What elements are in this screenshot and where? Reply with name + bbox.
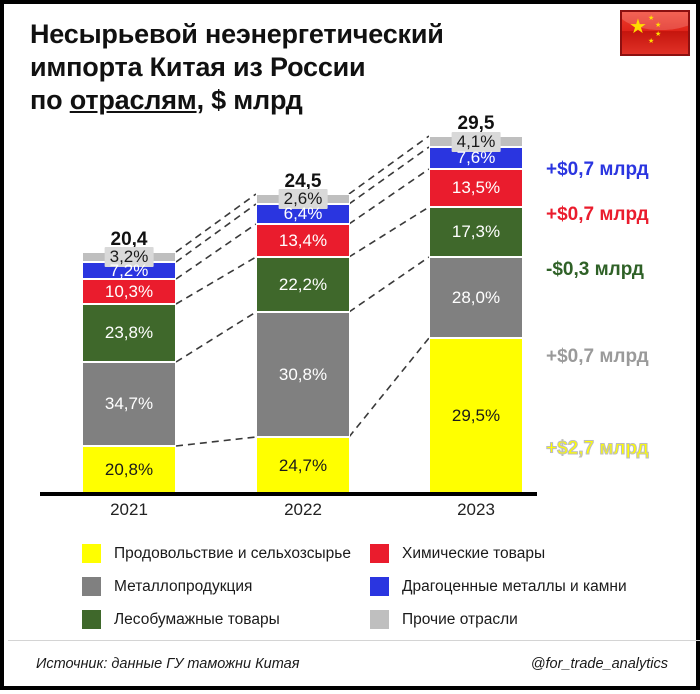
segment-label: 7,2% [110, 261, 149, 281]
legend-swatch-metal-icon [82, 577, 101, 596]
page-title: Несырьевой неэнергетический импорта Кита… [30, 18, 590, 117]
segment-other-2022: 2,6% [256, 194, 350, 204]
segment-label: 23,8% [105, 323, 153, 343]
segment-food-2023: 29,5% [429, 338, 523, 494]
segment-chem-2022: 13,4% [256, 224, 350, 257]
title-line-1: Несырьевой неэнергетический [30, 18, 590, 51]
flag-star-2: ★ [655, 22, 661, 29]
author-handle: @for_trade_analytics [531, 656, 668, 672]
delta-note-precious: +$0,7 млрд [546, 159, 649, 181]
legend-swatch-wood-icon [82, 610, 101, 629]
title-line-2: импорта Китая из России [30, 51, 590, 84]
legend-label: Прочие отрасли [402, 611, 518, 629]
flag-star-3: ★ [655, 31, 661, 38]
segment-label: 13,4% [279, 231, 327, 251]
x-axis-label-2022: 2022 [256, 500, 350, 520]
legend-item-wood[interactable]: Лесобумажные товары [82, 610, 280, 629]
segment-wood-2021: 23,8% [82, 304, 176, 362]
title-line-3-underlined: отраслям [70, 85, 197, 115]
flag-star-large: ★ [629, 17, 647, 37]
segment-food-2022: 24,7% [256, 437, 350, 494]
legend-item-chem[interactable]: Химические товары [370, 544, 545, 563]
china-flag-icon: ★ ★ ★ ★ ★ [620, 10, 690, 56]
segment-label: 34,7% [105, 394, 153, 414]
legend-item-metal[interactable]: Металлопродукция [82, 577, 252, 596]
legend-label: Металлопродукция [114, 578, 252, 596]
flag-star-1: ★ [648, 15, 654, 22]
segment-chem-2021: 10,3% [82, 279, 176, 304]
segment-label: 13,5% [452, 178, 500, 198]
segment-label: 6,4% [284, 204, 323, 224]
legend-label: Продовольствие и сельхозсырье [114, 545, 351, 563]
segment-metal-2021: 34,7% [82, 362, 176, 446]
segment-wood-2023: 17,3% [429, 207, 523, 257]
legend-swatch-chem-icon [370, 544, 389, 563]
delta-note-wood: -$0,3 млрд [546, 259, 644, 281]
segment-food-2021: 20,8% [82, 446, 176, 494]
segment-precious-2021: 7,2% [82, 262, 176, 279]
segment-metal-2022: 30,8% [256, 312, 350, 437]
segment-label: 7,6% [457, 148, 496, 168]
delta-note-food: +$2,7 млрд [546, 438, 649, 460]
segment-label: 10,3% [105, 282, 153, 302]
footer-divider [8, 640, 700, 641]
delta-note-metal: +$0,7 млрд [546, 346, 649, 368]
segment-label: 29,5% [452, 406, 500, 426]
delta-note-chem: +$0,7 млрд [546, 204, 649, 226]
legend-item-food[interactable]: Продовольствие и сельхозсырье [82, 544, 351, 563]
segment-metal-2023: 28,0% [429, 257, 523, 338]
legend-item-other[interactable]: Прочие отрасли [370, 610, 518, 629]
segment-label: 28,0% [452, 288, 500, 308]
x-axis-line [40, 492, 537, 496]
legend-swatch-food-icon [82, 544, 101, 563]
source-note: Источник: данные ГУ таможни Китая [36, 656, 299, 672]
segment-label: 22,2% [279, 275, 327, 295]
legend-item-precious[interactable]: Драгоценные металлы и камни [370, 577, 627, 596]
segment-label: 20,8% [105, 460, 153, 480]
segment-precious-2023: 7,6% [429, 147, 523, 169]
segment-chem-2023: 13,5% [429, 169, 523, 207]
segment-precious-2022: 6,4% [256, 204, 350, 224]
segment-other-2023: 4,1% [429, 136, 523, 147]
legend-label: Лесобумажные товары [114, 611, 280, 629]
segment-wood-2022: 22,2% [256, 257, 350, 312]
chart-root: Несырьевой неэнергетический импорта Кита… [0, 0, 700, 690]
legend-label: Химические товары [402, 545, 545, 563]
flag-star-4: ★ [648, 38, 654, 45]
segment-label: 24,7% [279, 456, 327, 476]
legend-swatch-precious-icon [370, 577, 389, 596]
legend-label: Драгоценные металлы и камни [402, 578, 627, 596]
title-line-3-suffix: , $ млрд [197, 85, 303, 115]
title-line-3-prefix: по [30, 85, 70, 115]
legend-swatch-other-icon [370, 610, 389, 629]
x-axis-label-2021: 2021 [82, 500, 176, 520]
x-axis-label-2023: 2023 [429, 500, 523, 520]
segment-label: 17,3% [452, 222, 500, 242]
segment-label: 30,8% [279, 365, 327, 385]
